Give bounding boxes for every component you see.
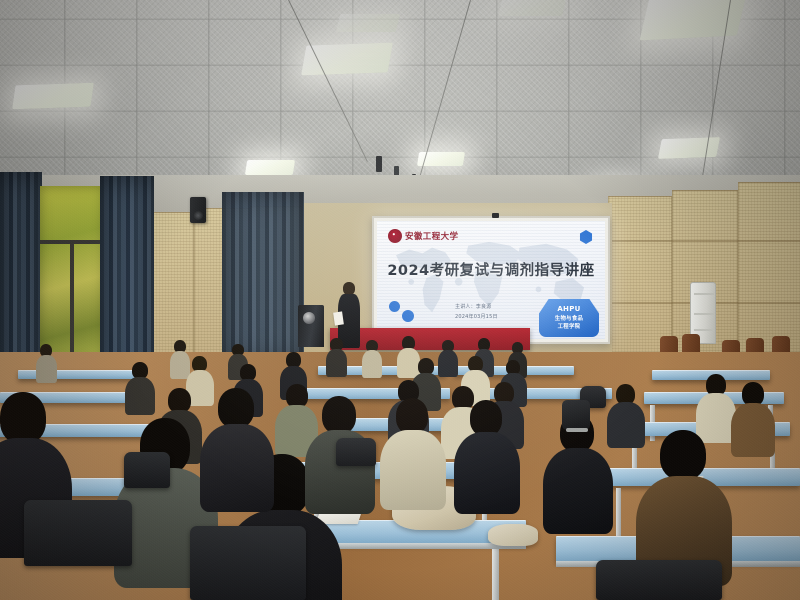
badge-acronym: AHPU [557, 304, 580, 315]
student-body [454, 432, 520, 514]
chair-back[interactable] [596, 560, 722, 600]
desk-leg [492, 549, 499, 600]
wall-panel [152, 212, 194, 360]
student-body [326, 349, 347, 377]
university-seal-icon [388, 229, 402, 243]
lectern [298, 305, 324, 347]
wall-panel [612, 240, 800, 242]
student-body [200, 424, 274, 512]
college-badge: AHPU 生物与食品 工程学院 [539, 299, 599, 337]
swivel-chair-base [566, 428, 588, 432]
student-body [731, 403, 775, 457]
recessed-led-panel [245, 160, 295, 175]
badge-line-2: 工程学院 [558, 323, 581, 331]
curtain-right[interactable] [222, 192, 304, 364]
slide-title: 2024考研复试与调剂指导讲座 [377, 259, 605, 280]
student-body [36, 355, 57, 383]
recessed-led-panel [301, 43, 393, 76]
wall-panel [608, 196, 672, 356]
student-body [607, 402, 645, 448]
student-head [322, 396, 356, 434]
recessed-led-panel [498, 0, 566, 16]
window-mullion [70, 240, 74, 362]
recessed-led-panel [639, 0, 746, 40]
student-body [397, 348, 420, 378]
badge-line-1: 生物与食品 [555, 315, 583, 323]
recessed-led-panel [336, 14, 400, 32]
recessed-led-panel [12, 83, 94, 110]
student-body [438, 350, 458, 377]
chair-back[interactable] [190, 526, 306, 600]
speaker-driver [193, 211, 203, 220]
slide-date-line: 2024年03月15日 [455, 313, 498, 322]
ceiling-sensor [376, 156, 382, 172]
chair-back[interactable] [24, 500, 132, 566]
student-body [380, 430, 446, 510]
student-head [0, 392, 46, 444]
student-body [696, 393, 736, 443]
ceiling-camera-icon [492, 213, 499, 218]
decor-dot [389, 301, 400, 312]
university-name: 安徽工程大学 [405, 230, 458, 242]
student-body [543, 448, 613, 534]
recessed-led-panel [658, 137, 720, 159]
projection-screen[interactable]: 安徽工程大学 2024考研复试与调剂指导讲座 主讲人：李良源 2024年03月1… [372, 216, 610, 344]
lecture-hall-photo: 安徽工程大学 2024考研复试与调剂指导讲座 主讲人：李良源 2024年03月1… [0, 0, 800, 600]
presentation-slide: 安徽工程大学 2024考研复试与调剂指导讲座 主讲人：李良源 2024年03月1… [377, 221, 605, 339]
swivel-chair[interactable] [562, 400, 590, 430]
slide-presenter-line: 主讲人：李良源 [455, 303, 491, 312]
student-head [396, 398, 428, 434]
ac-vent [694, 313, 714, 315]
student-body [125, 377, 155, 415]
student-body [362, 350, 382, 378]
student-head [470, 400, 502, 436]
circle-decoration-icon [389, 299, 425, 325]
presenter-papers [333, 311, 344, 325]
wall-speaker [190, 197, 206, 223]
student-head [660, 430, 706, 480]
coat[interactable] [488, 524, 538, 546]
university-logo: 安徽工程大学 [388, 229, 458, 243]
chair-back[interactable] [124, 452, 170, 488]
ac-vent [694, 293, 714, 295]
ac-vent [694, 329, 714, 331]
chair-back[interactable] [336, 438, 376, 466]
lectern-emblem-icon [303, 312, 315, 324]
student-body [170, 351, 190, 379]
decor-dot [402, 310, 414, 322]
student-head [218, 388, 254, 428]
